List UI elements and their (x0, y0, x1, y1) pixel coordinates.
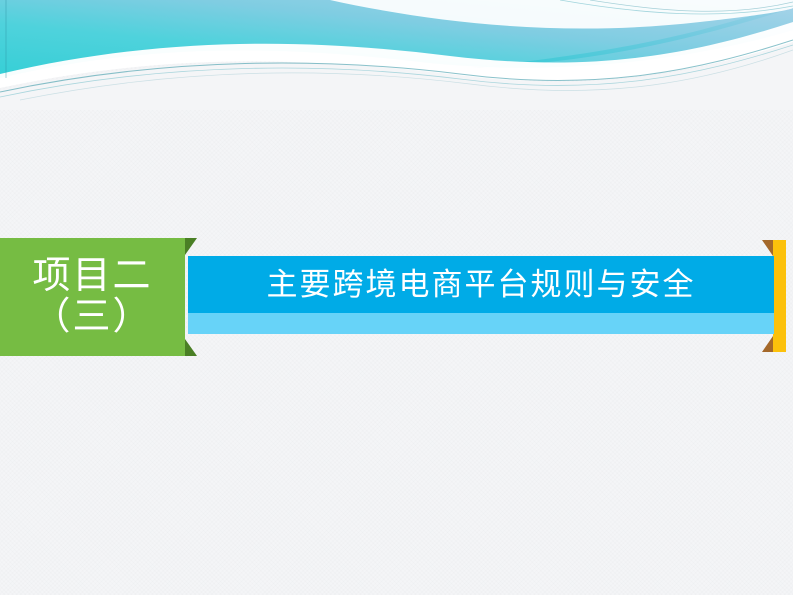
chapter-label-box: 项目二 （三） (0, 238, 185, 356)
slide-title-text: 主要跨境电商平台规则与安全 (267, 269, 696, 300)
endcap-notch-top-icon (762, 240, 773, 256)
title-banner: 主要跨境电商平台规则与安全 (188, 256, 774, 313)
chapter-box-fold-bottom-icon (185, 339, 197, 356)
endcap-notch-bottom-icon (762, 336, 773, 352)
slide-title-group: 主要跨境电商平台规则与安全 项目二 （三） (0, 232, 793, 362)
title-banner-underbar (188, 313, 774, 334)
chapter-label-line1: 项目二 (32, 256, 152, 297)
chapter-label-line2: （三） (32, 297, 152, 338)
slide-content-body (0, 370, 793, 595)
presentation-slide: 主要跨境电商平台规则与安全 项目二 （三） (0, 0, 793, 595)
endcap-bar (773, 240, 786, 352)
top-wave-graphic (0, 0, 793, 110)
chapter-box-fold-top-icon (185, 238, 197, 255)
